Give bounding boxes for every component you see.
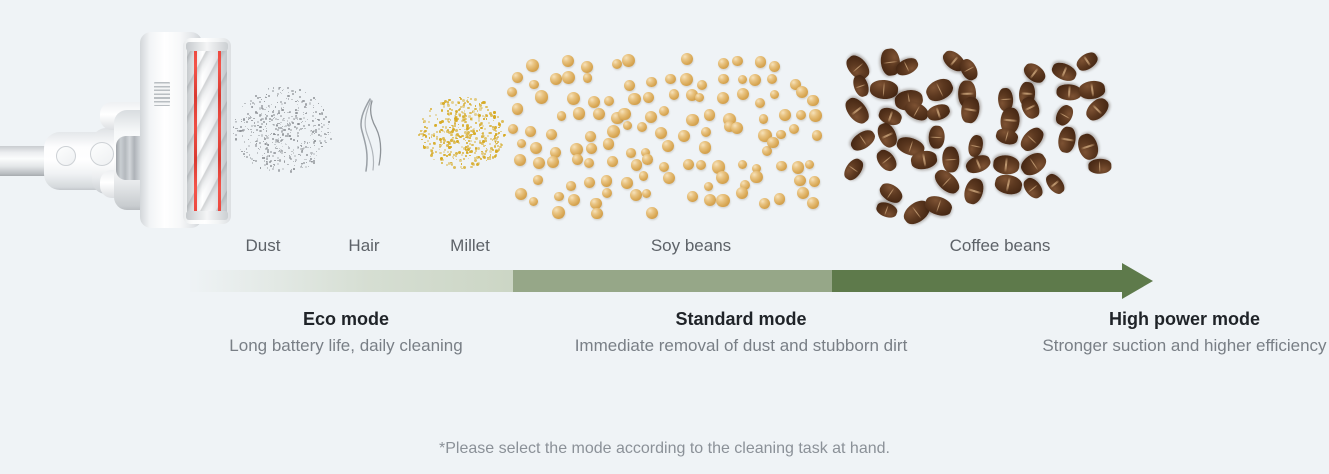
soy-bean bbox=[718, 74, 729, 85]
particle bbox=[436, 137, 439, 140]
particle bbox=[328, 124, 329, 125]
soy-bean bbox=[701, 127, 711, 137]
particle bbox=[272, 138, 274, 140]
particle bbox=[314, 133, 315, 134]
soy-bean bbox=[585, 131, 596, 142]
particle bbox=[271, 104, 272, 105]
particle bbox=[299, 118, 301, 120]
particle bbox=[272, 111, 274, 113]
particle bbox=[283, 139, 284, 140]
soy-bean bbox=[669, 89, 680, 100]
particle bbox=[432, 147, 434, 149]
particle bbox=[487, 135, 489, 137]
particle bbox=[287, 164, 289, 166]
particle bbox=[261, 107, 263, 109]
particle bbox=[462, 105, 465, 108]
particle bbox=[468, 127, 470, 129]
coffee-bean bbox=[1056, 83, 1082, 101]
particle bbox=[273, 152, 275, 154]
particle bbox=[467, 131, 470, 134]
particle bbox=[448, 146, 451, 149]
soy-bean bbox=[738, 75, 748, 85]
particle bbox=[323, 109, 325, 111]
particle bbox=[320, 135, 321, 136]
vacuum-button-secondary bbox=[90, 142, 114, 166]
particle bbox=[461, 120, 463, 122]
particle bbox=[479, 129, 481, 131]
coffee-bean bbox=[851, 74, 871, 99]
soy-bean bbox=[624, 80, 635, 91]
particle bbox=[439, 149, 441, 151]
particle bbox=[311, 154, 312, 155]
particle bbox=[288, 98, 290, 100]
soy-bean bbox=[645, 111, 657, 123]
particle bbox=[455, 155, 457, 157]
coffee-bean bbox=[1075, 131, 1101, 162]
power-scale-bar bbox=[0, 262, 1329, 302]
particle bbox=[495, 154, 498, 157]
particle bbox=[305, 159, 307, 161]
particle bbox=[290, 158, 292, 160]
soy-bean bbox=[643, 92, 654, 103]
soy-bean bbox=[796, 86, 808, 98]
vacuum-button-primary bbox=[56, 146, 76, 166]
soy-bean bbox=[717, 92, 729, 104]
coffee-beans-group bbox=[838, 52, 1108, 220]
soy-bean bbox=[769, 61, 780, 72]
particle bbox=[448, 154, 450, 156]
particle bbox=[315, 118, 317, 120]
particle bbox=[277, 96, 278, 97]
particle bbox=[284, 120, 285, 121]
soy-bean bbox=[686, 114, 698, 126]
particle bbox=[418, 134, 420, 136]
particle bbox=[277, 148, 278, 149]
soy-bean bbox=[750, 171, 763, 184]
particle bbox=[453, 140, 455, 142]
particle bbox=[447, 151, 449, 153]
particle bbox=[478, 116, 481, 119]
particle bbox=[296, 127, 298, 129]
soy-bean bbox=[736, 187, 748, 199]
soy-bean bbox=[525, 126, 536, 137]
particle bbox=[495, 143, 497, 145]
particle bbox=[286, 98, 287, 99]
particle bbox=[465, 155, 467, 157]
particle bbox=[294, 119, 295, 120]
particle bbox=[479, 123, 482, 126]
soy-bean bbox=[807, 95, 818, 106]
particle bbox=[259, 126, 261, 128]
particle bbox=[272, 142, 273, 143]
soy-bean bbox=[637, 122, 647, 132]
particle bbox=[253, 132, 254, 133]
particle bbox=[472, 110, 474, 112]
particle bbox=[266, 123, 268, 125]
particle bbox=[461, 146, 463, 148]
particle bbox=[476, 156, 479, 159]
item-label-soy-beans: Soy beans bbox=[651, 236, 731, 256]
particle bbox=[430, 154, 433, 157]
soy-bean bbox=[530, 142, 543, 155]
particle bbox=[297, 104, 298, 105]
particle bbox=[237, 130, 238, 131]
dust-particles bbox=[232, 86, 332, 172]
particle bbox=[477, 162, 480, 165]
soy-bean bbox=[646, 207, 658, 219]
particle bbox=[304, 143, 305, 144]
particle bbox=[426, 127, 428, 129]
particle bbox=[299, 89, 301, 91]
particle bbox=[255, 146, 257, 148]
soy-bean bbox=[812, 130, 822, 140]
particle bbox=[268, 89, 269, 90]
particle bbox=[265, 148, 267, 150]
particle bbox=[275, 118, 277, 120]
soy-bean bbox=[792, 161, 805, 174]
particle bbox=[431, 136, 433, 138]
particle bbox=[328, 121, 330, 123]
particle bbox=[489, 156, 491, 158]
particle bbox=[310, 99, 311, 100]
particle bbox=[325, 116, 327, 118]
particle bbox=[439, 144, 442, 147]
power-mode-infographic: Dust Hair Millet Soy beans Coffee beans … bbox=[0, 0, 1329, 474]
particle bbox=[264, 157, 265, 158]
particle bbox=[464, 110, 466, 112]
soy-bean bbox=[581, 61, 593, 73]
particle bbox=[235, 139, 237, 141]
particle bbox=[266, 137, 268, 139]
particle bbox=[453, 158, 454, 159]
particle bbox=[262, 157, 264, 159]
particle bbox=[474, 152, 476, 154]
particle bbox=[306, 107, 307, 108]
particle bbox=[259, 97, 260, 98]
soy-bean bbox=[699, 141, 712, 154]
arrow-right-icon bbox=[1122, 263, 1153, 299]
item-label-hair: Hair bbox=[348, 236, 379, 256]
particle bbox=[315, 99, 317, 101]
particle bbox=[476, 130, 478, 132]
particle bbox=[431, 150, 433, 152]
particle bbox=[318, 124, 320, 126]
particle bbox=[450, 119, 452, 121]
particle bbox=[427, 140, 429, 142]
particle bbox=[277, 163, 279, 165]
particle bbox=[451, 109, 454, 112]
particle bbox=[443, 142, 445, 144]
soy-bean bbox=[716, 171, 729, 184]
vacuum-roller-stripe-right bbox=[218, 42, 221, 220]
coffee-bean bbox=[925, 102, 951, 123]
soy-bean bbox=[604, 96, 614, 106]
particle bbox=[271, 119, 273, 121]
particle bbox=[431, 134, 433, 136]
soy-bean bbox=[789, 124, 799, 134]
particle bbox=[304, 128, 305, 129]
soy-bean bbox=[508, 124, 518, 134]
particle bbox=[489, 112, 492, 115]
particle bbox=[279, 123, 280, 124]
particle bbox=[483, 145, 485, 147]
particle bbox=[499, 125, 501, 127]
particle bbox=[470, 140, 472, 142]
particle bbox=[280, 137, 281, 138]
soy-bean bbox=[770, 90, 779, 99]
particle bbox=[424, 142, 426, 144]
particle bbox=[285, 143, 287, 145]
particle bbox=[310, 135, 311, 136]
particle bbox=[267, 151, 269, 153]
soy-bean bbox=[655, 127, 667, 139]
particle bbox=[278, 112, 280, 114]
particle bbox=[450, 151, 452, 153]
particle bbox=[425, 135, 428, 138]
particle bbox=[282, 168, 284, 170]
soy-bean bbox=[631, 159, 643, 171]
particle bbox=[312, 115, 314, 117]
soy-bean bbox=[533, 157, 545, 169]
soy-bean bbox=[639, 171, 649, 181]
particle bbox=[429, 110, 431, 112]
particle bbox=[235, 134, 237, 136]
particle bbox=[288, 92, 289, 93]
soy-bean bbox=[622, 54, 635, 67]
particle bbox=[292, 93, 294, 95]
particle bbox=[493, 128, 496, 131]
particle bbox=[439, 152, 442, 155]
particle bbox=[256, 140, 258, 142]
particle bbox=[487, 158, 489, 160]
particle bbox=[500, 143, 503, 146]
particle bbox=[284, 129, 286, 131]
hair-icon bbox=[350, 95, 390, 175]
soy-bean bbox=[737, 88, 749, 100]
soy-bean bbox=[586, 143, 597, 154]
particle bbox=[268, 105, 269, 106]
coffee-bean bbox=[1018, 149, 1050, 179]
particle bbox=[497, 141, 499, 143]
particle bbox=[264, 101, 265, 102]
particle bbox=[470, 98, 472, 100]
particle bbox=[483, 118, 485, 120]
particle bbox=[477, 110, 479, 112]
particle bbox=[260, 146, 261, 147]
particle bbox=[237, 128, 238, 129]
particle bbox=[494, 137, 496, 139]
vacuum-roller-stripe-left bbox=[194, 42, 197, 220]
particle bbox=[302, 167, 303, 168]
particle bbox=[475, 105, 477, 107]
soy-bean bbox=[601, 175, 613, 187]
particle bbox=[474, 141, 476, 143]
particle bbox=[320, 142, 322, 144]
particle bbox=[284, 156, 285, 157]
particle bbox=[305, 121, 306, 122]
particle bbox=[480, 122, 482, 124]
particle bbox=[435, 124, 437, 126]
soy-bean bbox=[557, 111, 567, 121]
particle bbox=[295, 101, 297, 103]
particle bbox=[449, 127, 451, 129]
soy-bean bbox=[535, 90, 548, 103]
particle bbox=[243, 153, 245, 155]
particle bbox=[268, 88, 269, 89]
soy-bean bbox=[797, 187, 809, 199]
particle bbox=[428, 121, 430, 123]
particle bbox=[461, 111, 463, 113]
particle bbox=[467, 152, 469, 154]
particle bbox=[314, 125, 315, 126]
particle bbox=[276, 124, 278, 126]
particle bbox=[261, 99, 262, 100]
mode-description-high-power: Stronger suction and higher efficiency bbox=[1040, 335, 1329, 358]
particle bbox=[242, 135, 244, 137]
particle bbox=[258, 135, 260, 137]
soy-bean bbox=[630, 189, 642, 201]
particle bbox=[474, 98, 477, 101]
particle bbox=[249, 154, 250, 155]
particle bbox=[321, 131, 322, 132]
particle bbox=[250, 103, 252, 105]
particle bbox=[299, 96, 301, 98]
particle bbox=[266, 128, 267, 129]
soy-bean bbox=[779, 109, 791, 121]
particle bbox=[456, 140, 459, 143]
particle bbox=[485, 145, 487, 147]
soy-bean bbox=[809, 109, 822, 122]
particle bbox=[284, 152, 286, 154]
particle bbox=[428, 133, 430, 135]
particle bbox=[259, 142, 261, 144]
particle bbox=[282, 109, 284, 111]
soy-bean bbox=[628, 93, 640, 105]
soy-bean bbox=[567, 92, 580, 105]
particle bbox=[436, 131, 438, 133]
soy-bean bbox=[584, 177, 595, 188]
vacuum-roller-housing bbox=[183, 38, 231, 224]
particle bbox=[274, 160, 275, 161]
particle bbox=[303, 117, 305, 119]
coffee-bean bbox=[841, 94, 872, 127]
soy-bean bbox=[704, 182, 713, 191]
particle bbox=[465, 118, 467, 120]
soy-bean bbox=[529, 197, 538, 206]
particle bbox=[441, 109, 444, 112]
soy-bean bbox=[515, 188, 527, 200]
soy-bean bbox=[562, 71, 575, 84]
soy-bean bbox=[588, 96, 601, 109]
particle bbox=[485, 140, 487, 142]
soy-bean bbox=[526, 59, 539, 72]
particle bbox=[268, 144, 269, 145]
footnote-text: *Please select the mode according to the… bbox=[0, 440, 1329, 458]
particle bbox=[270, 165, 272, 167]
coffee-bean bbox=[1050, 60, 1079, 84]
particle bbox=[464, 121, 467, 124]
particle bbox=[270, 160, 272, 162]
particle bbox=[306, 112, 307, 113]
particle bbox=[421, 139, 423, 141]
particle bbox=[458, 124, 460, 126]
particle bbox=[497, 136, 499, 138]
particle bbox=[422, 135, 424, 137]
particle bbox=[295, 161, 296, 162]
particle bbox=[321, 146, 323, 148]
soy-bean bbox=[646, 77, 656, 87]
soy-bean bbox=[796, 110, 807, 121]
particle bbox=[440, 158, 442, 160]
particle bbox=[277, 119, 279, 121]
particle bbox=[325, 134, 326, 135]
particle bbox=[288, 146, 289, 147]
vacuum-roller-cap-top bbox=[186, 42, 228, 51]
particle bbox=[251, 131, 253, 133]
particle bbox=[435, 114, 437, 116]
soy-bean bbox=[738, 160, 748, 170]
particle bbox=[319, 140, 321, 142]
particle bbox=[493, 120, 494, 121]
particle bbox=[467, 97, 468, 98]
soy-bean bbox=[618, 108, 630, 120]
particle bbox=[422, 118, 424, 120]
hair-strands bbox=[350, 95, 390, 175]
particle bbox=[493, 115, 496, 118]
particle bbox=[298, 101, 299, 102]
particle bbox=[459, 129, 461, 131]
coffee-bean bbox=[964, 152, 993, 176]
coffee-bean bbox=[931, 166, 963, 197]
soy-bean bbox=[805, 160, 814, 169]
particle bbox=[470, 126, 472, 128]
particle bbox=[295, 91, 296, 92]
particle bbox=[493, 111, 496, 114]
particle bbox=[487, 109, 489, 111]
soy-bean bbox=[533, 175, 543, 185]
scale-segment-high-power bbox=[832, 270, 1122, 292]
particle bbox=[475, 122, 477, 124]
soy-bean bbox=[755, 56, 766, 67]
particle bbox=[257, 152, 259, 154]
particle bbox=[281, 143, 282, 144]
particle bbox=[277, 113, 279, 115]
particle bbox=[429, 143, 432, 146]
particle bbox=[308, 166, 309, 167]
particle bbox=[278, 110, 280, 112]
particle bbox=[316, 151, 317, 152]
particle bbox=[489, 143, 491, 145]
particle bbox=[273, 114, 275, 116]
soy-bean bbox=[678, 130, 690, 142]
particle bbox=[321, 123, 322, 124]
soy-bean bbox=[602, 188, 612, 198]
particle bbox=[246, 121, 248, 123]
particle bbox=[330, 132, 331, 133]
soy-bean bbox=[807, 197, 819, 209]
soy-bean bbox=[683, 159, 694, 170]
particle bbox=[462, 124, 465, 127]
particle bbox=[308, 124, 310, 126]
particle bbox=[283, 89, 284, 90]
particle bbox=[307, 147, 309, 149]
particle bbox=[285, 135, 287, 137]
particle bbox=[464, 102, 466, 104]
particle bbox=[242, 106, 243, 107]
particle bbox=[314, 158, 315, 159]
particle bbox=[235, 119, 236, 120]
particle bbox=[488, 122, 491, 125]
